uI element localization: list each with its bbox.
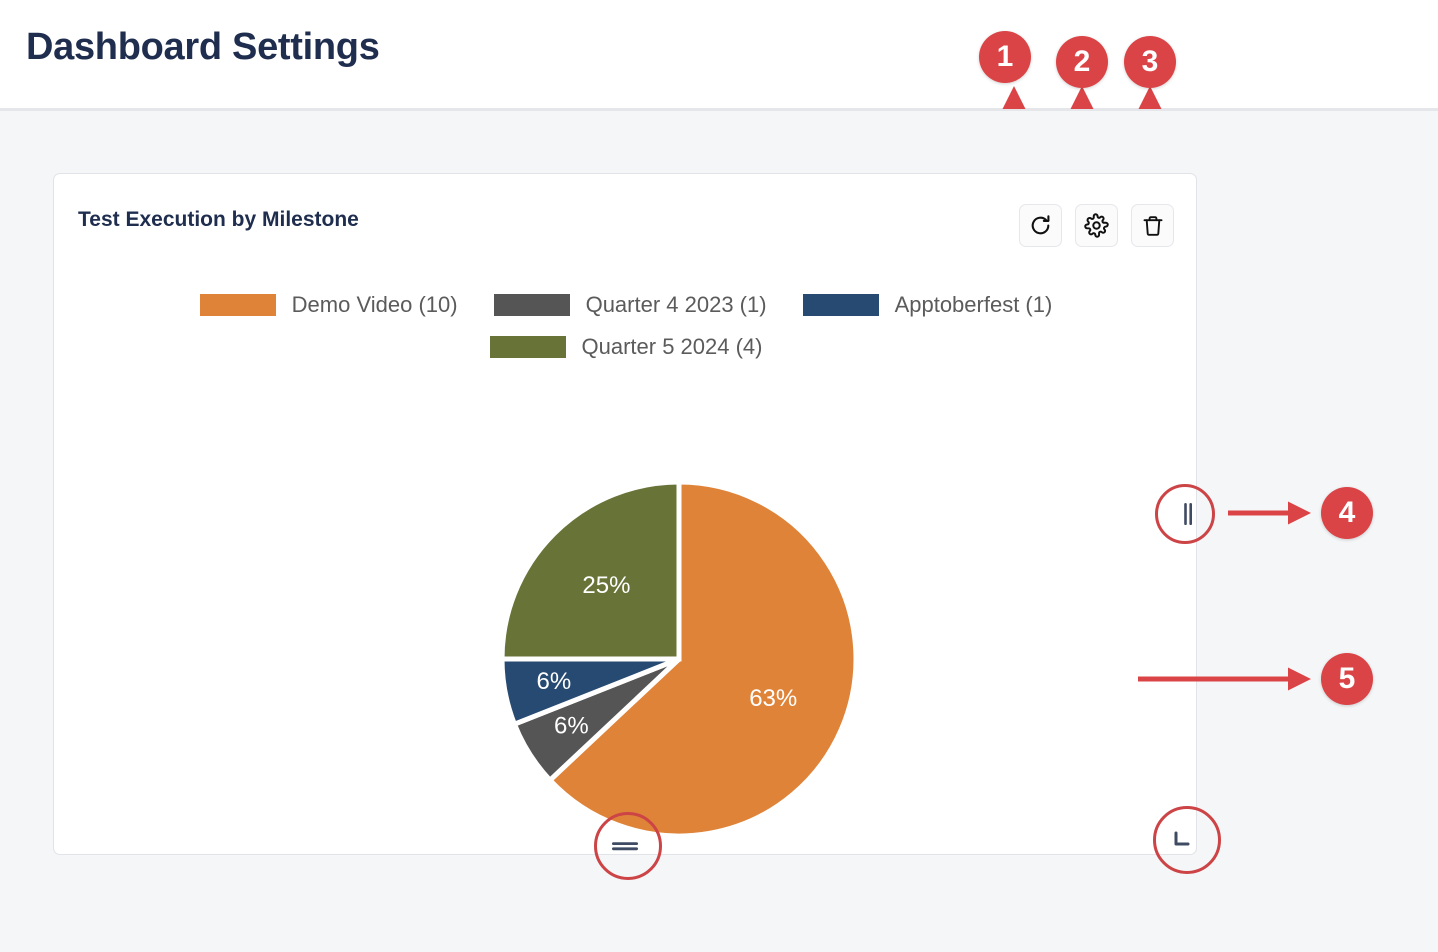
legend-item-label: Quarter 5 2024 (4) [582, 334, 763, 360]
page-title: Dashboard Settings [26, 26, 380, 69]
pie-chart[interactable]: 63%6%6%25% [501, 479, 857, 839]
widget-toolbar [1019, 204, 1174, 247]
legend-item-label: Demo Video (10) [292, 292, 458, 318]
widget-card[interactable]: Test Execution by Milestone [53, 173, 1197, 855]
legend-item-quarter-4-2023[interactable]: Quarter 4 2023 (1) [494, 292, 767, 318]
refresh-icon [1028, 213, 1053, 238]
pie-slice-value-label: 25% [582, 572, 630, 599]
legend-item-quarter-5-2024[interactable]: Quarter 5 2024 (4) [490, 334, 763, 360]
legend-swatch-icon [490, 336, 566, 358]
pie-slice-value-label: 6% [554, 713, 589, 740]
horizontal-resize-handle[interactable] [607, 837, 643, 855]
corner-resize-handle[interactable] [1169, 827, 1195, 853]
legend-row: Quarter 5 2024 (4) [54, 334, 1198, 360]
gear-icon [1084, 213, 1109, 238]
pie-slices [502, 482, 856, 836]
settings-button[interactable] [1075, 204, 1118, 247]
legend-swatch-icon [200, 294, 276, 316]
legend-item-label: Apptoberfest (1) [895, 292, 1053, 318]
legend-swatch-icon [494, 294, 570, 316]
legend-item-label: Quarter 4 2023 (1) [586, 292, 767, 318]
chart-legend: Demo Video (10) Quarter 4 2023 (1) Appto… [54, 292, 1198, 376]
trash-icon [1141, 214, 1165, 238]
corner-grip-icon [1171, 829, 1193, 851]
dashboard-body: Test Execution by Milestone [0, 114, 1438, 952]
app-header: Dashboard Settings [0, 0, 1438, 111]
pie-slice-value-label: 6% [536, 668, 571, 695]
pie-slice-value-label: 63% [749, 685, 797, 712]
legend-item-apptoberfest[interactable]: Apptoberfest (1) [803, 292, 1053, 318]
legend-item-demo-video[interactable]: Demo Video (10) [200, 292, 458, 318]
legend-row: Demo Video (10) Quarter 4 2023 (1) Appto… [54, 292, 1198, 318]
legend-swatch-icon [803, 294, 879, 316]
refresh-button[interactable] [1019, 204, 1062, 247]
resize-grip-icon [610, 839, 640, 853]
pie-chart-svg: 63%6%6%25% [501, 479, 857, 839]
vertical-resize-handle[interactable] [1179, 496, 1197, 532]
widget-title: Test Execution by Milestone [78, 208, 359, 232]
delete-button[interactable] [1131, 204, 1174, 247]
pie-slice[interactable] [502, 482, 679, 659]
resize-grip-icon [1181, 501, 1195, 527]
